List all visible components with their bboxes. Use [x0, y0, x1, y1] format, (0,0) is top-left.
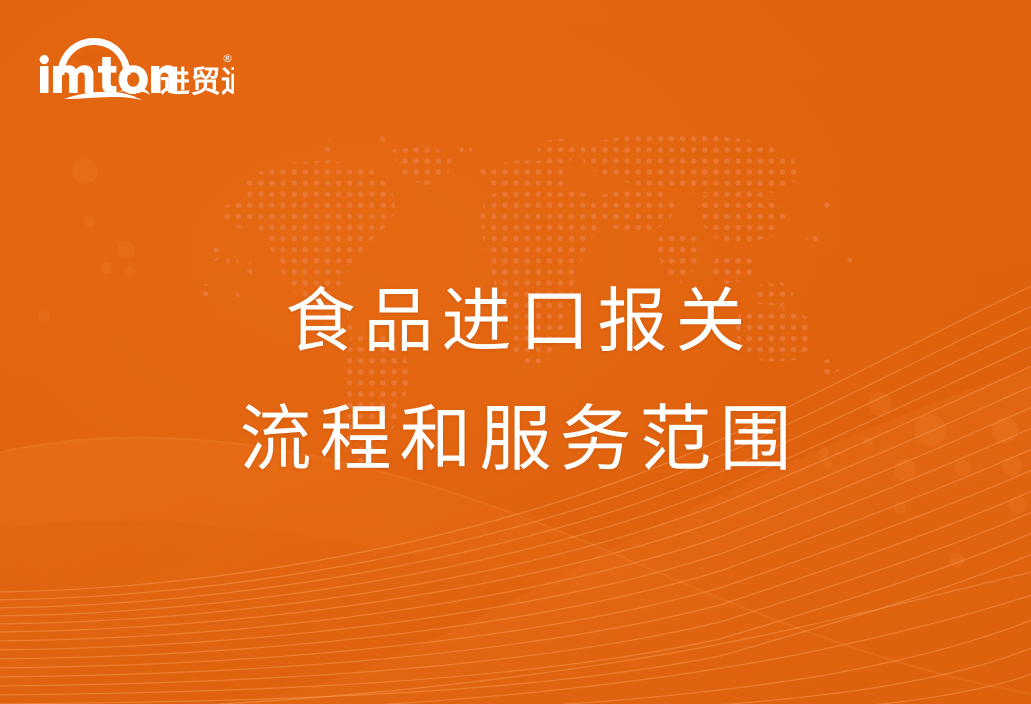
- company-logo[interactable]: 进贸通 ®: [34, 30, 234, 108]
- title-slide: 进贸通 ® 食品进口报关 流程和服务范围: [0, 0, 1031, 704]
- trademark-icon: ®: [222, 52, 233, 65]
- logo-chinese-name: 进贸通: [160, 65, 234, 100]
